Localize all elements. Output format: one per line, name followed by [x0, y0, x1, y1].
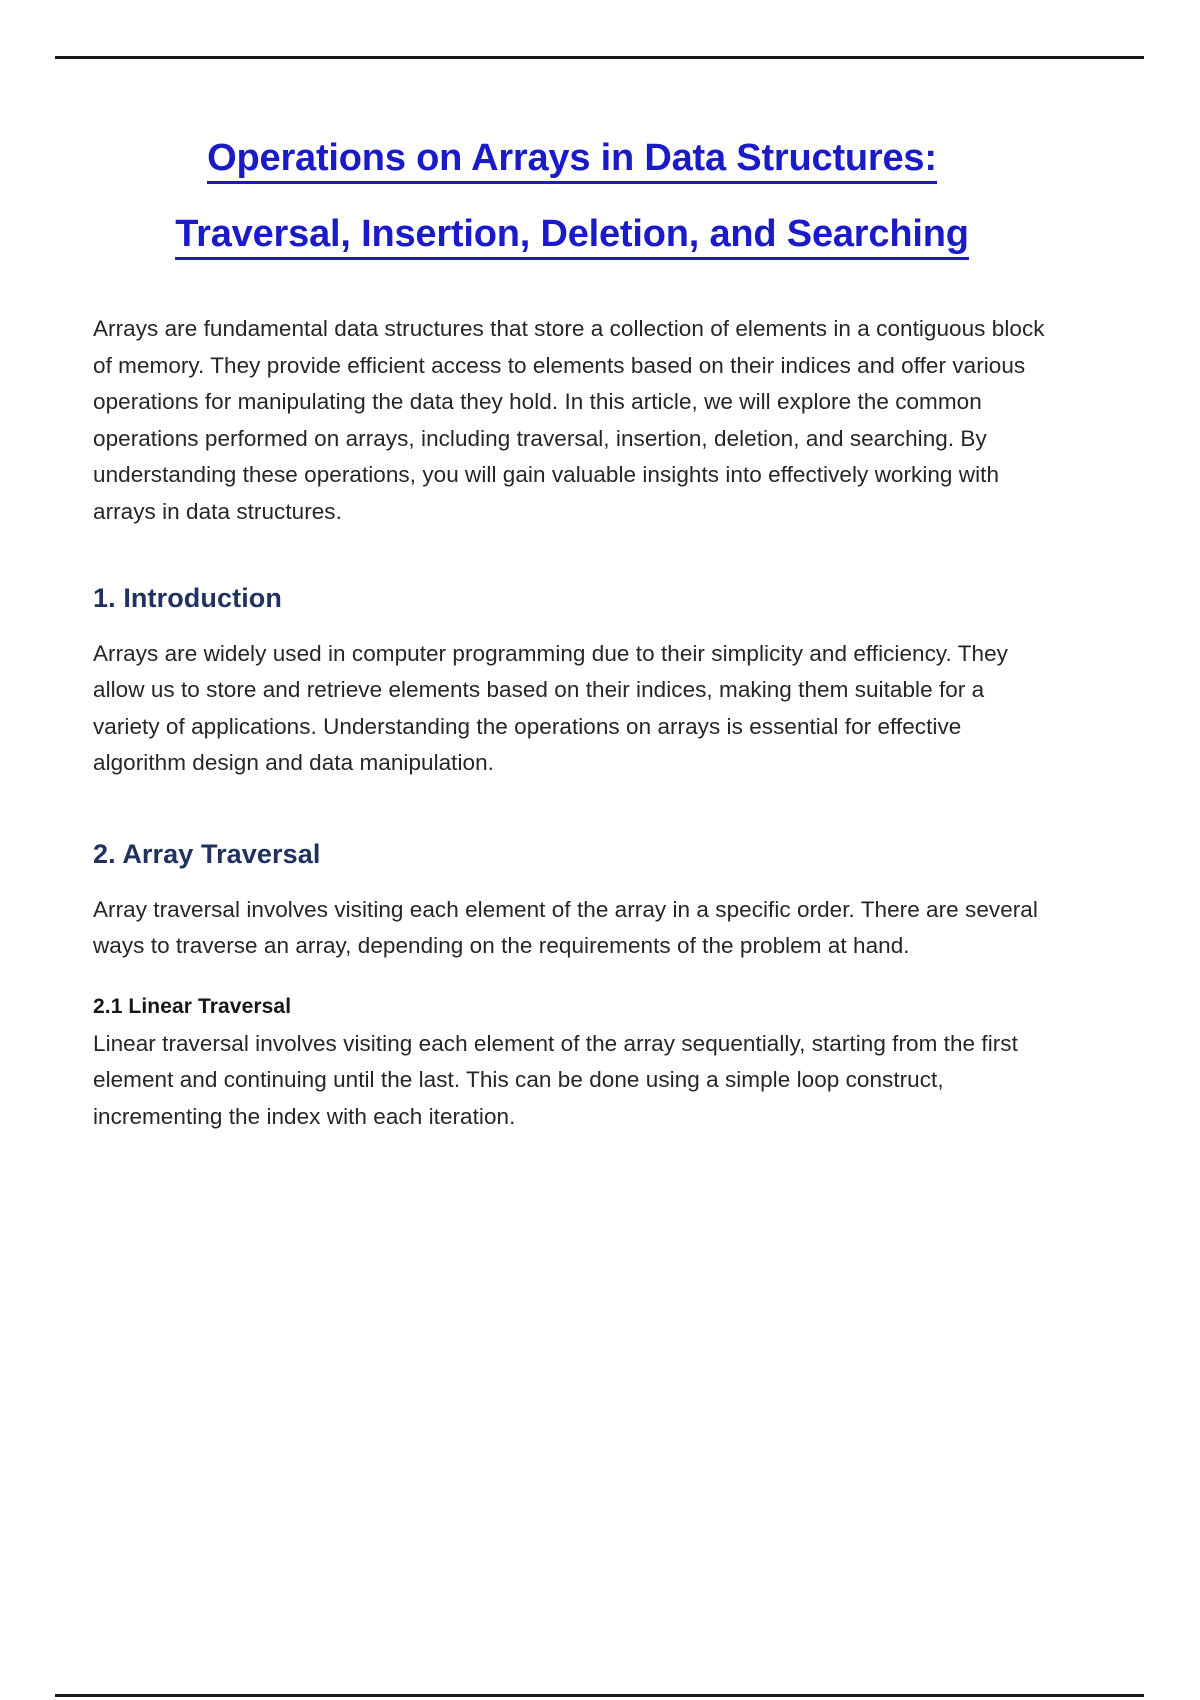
intro-paragraph: Arrays are fundamental data structures t…: [93, 311, 1051, 530]
document-page: Operations on Arrays in Data Structures:…: [0, 0, 1200, 1700]
section-paragraph-introduction: Arrays are widely used in computer progr…: [93, 636, 1051, 782]
section-heading-introduction: 1. Introduction: [93, 582, 1051, 616]
section-paragraph-array-traversal: Array traversal involves visiting each e…: [93, 892, 1051, 965]
subsection-heading-linear-traversal: 2.1 Linear Traversal: [93, 993, 1051, 1020]
section-heading-array-traversal: 2. Array Traversal: [93, 838, 1051, 872]
header-rule: [55, 56, 1144, 59]
page-title-line-2: Traversal, Insertion, Deletion, and Sear…: [175, 213, 968, 260]
page-title-line-1: Operations on Arrays in Data Structures:: [207, 137, 937, 184]
subsection-paragraph-linear-traversal: Linear traversal involves visiting each …: [93, 1026, 1051, 1136]
footer-rule: [55, 1694, 1144, 1697]
page-title: Operations on Arrays in Data Structures:…: [93, 128, 1051, 265]
document-body: Operations on Arrays in Data Structures:…: [93, 128, 1051, 1135]
